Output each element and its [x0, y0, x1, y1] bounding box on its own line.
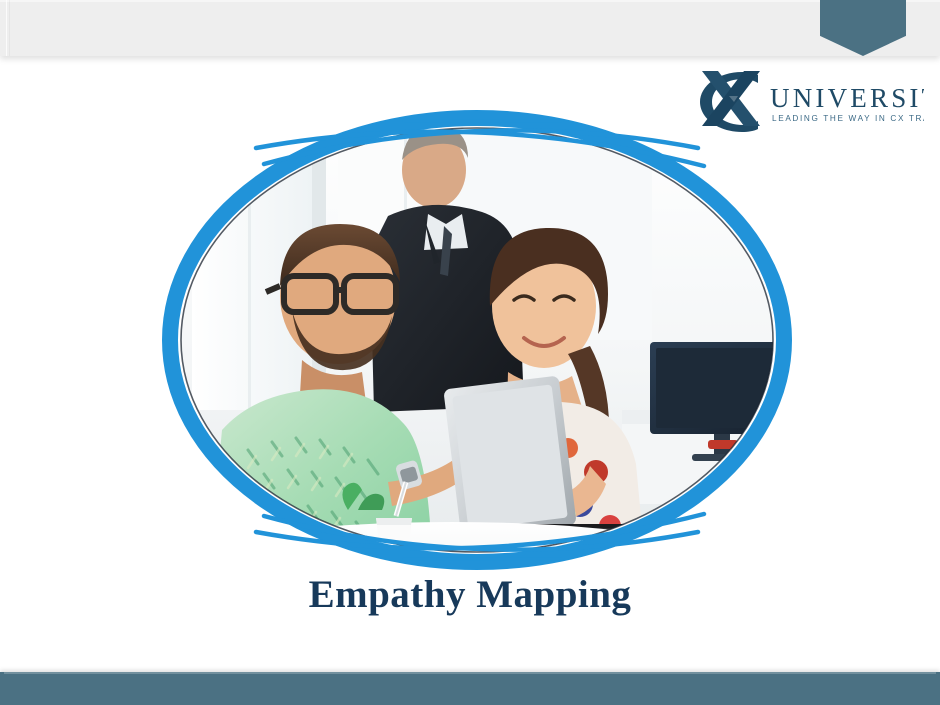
top-header-band [0, 0, 940, 56]
photo-content [152, 110, 802, 570]
top-band-left-rule-shadow [9, 0, 10, 56]
photo-ellipse-frame [152, 110, 802, 570]
logo-wordmark: UNIVERSITY [770, 83, 924, 113]
top-band-left-rule [6, 0, 7, 56]
footer-bar [0, 672, 940, 705]
top-band-highlight [0, 0, 940, 2]
photo-tablet [443, 375, 576, 538]
photo-desk-glasses [749, 461, 794, 475]
slide-canvas: UNIVERSITY LEADING THE WAY IN CX TRAININ… [0, 0, 940, 705]
footer-bar-highlight [4, 672, 936, 674]
page-title: Empathy Mapping [0, 572, 940, 617]
photo-patterned-cup [712, 494, 750, 544]
